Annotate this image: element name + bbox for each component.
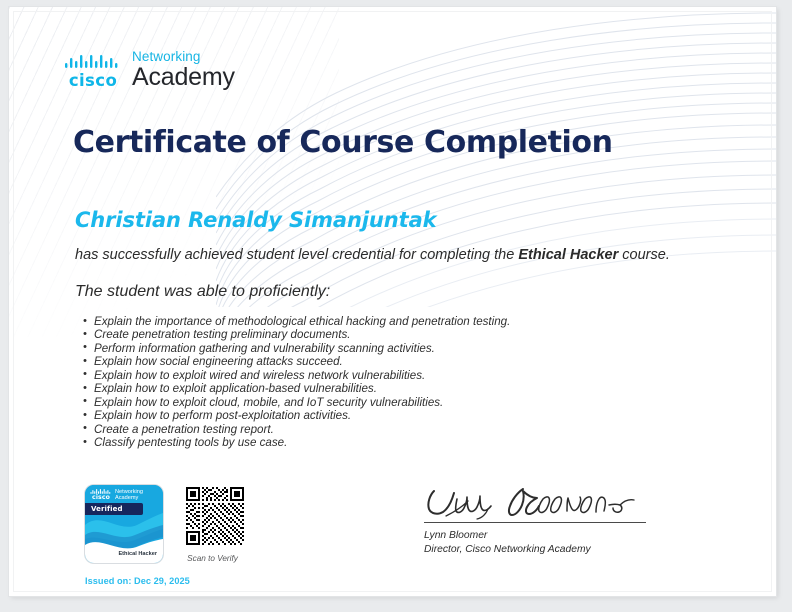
competency-list: Explain the importance of methodological… (83, 315, 510, 450)
achievement-suffix: course. (618, 247, 670, 263)
list-item: Explain how social engineering attacks s… (83, 355, 510, 368)
list-item: Explain the importance of methodological… (83, 315, 510, 328)
signature-block: Lynn Bloomer Director, Cisco Networking … (424, 485, 684, 557)
page-title: Certificate of Course Completion (73, 125, 613, 160)
list-item: Create a penetration testing report. (83, 423, 510, 436)
verified-ribbon: Verified (85, 503, 143, 515)
verified-badge-icon: cisco Networking Academy Verified Ethica… (85, 485, 163, 563)
academy-wordmark: Networking Academy (132, 50, 235, 92)
handwritten-signature-icon (424, 485, 639, 521)
list-item: Explain how to exploit application-based… (83, 382, 510, 395)
badge-academy-wordmark: Networking Academy (115, 489, 143, 501)
recipient-name: Christian Renaldy Simanjuntak (75, 208, 437, 232)
qr-caption: Scan to Verify (179, 554, 246, 563)
list-item: Create penetration testing preliminary d… (83, 328, 510, 341)
qr-verification-block[interactable]: Scan to Verify (186, 487, 246, 563)
certificate-page: cisco Networking Academy Certificate of … (9, 7, 776, 596)
qr-code-icon[interactable] (186, 487, 244, 545)
signatory-title: Director, Cisco Networking Academy (424, 543, 684, 557)
badge-logo: cisco Networking Academy (90, 489, 143, 501)
certificate-content: cisco Networking Academy Certificate of … (9, 7, 776, 596)
badge-course-label: Ethical Hacker (118, 551, 157, 557)
academy-word: Academy (132, 64, 235, 91)
networking-word: Networking (132, 50, 235, 64)
list-item: Explain how to exploit cloud, mobile, an… (83, 396, 510, 409)
course-name: Ethical Hacker (518, 247, 618, 263)
cisco-bars-icon (65, 55, 121, 71)
cisco-networking-academy-logo: cisco Networking Academy (65, 50, 235, 92)
badge-cisco-text: cisco (92, 495, 110, 501)
badge-academy-word: Academy (115, 495, 143, 501)
achievement-statement: has successfully achieved student level … (75, 247, 670, 263)
badge-cisco-wordmark: cisco (90, 489, 112, 501)
list-item: Explain how to exploit wired and wireles… (83, 369, 510, 382)
list-item: Classify pentesting tools by use case. (83, 436, 510, 449)
list-item: Perform information gathering and vulner… (83, 342, 510, 355)
cisco-wordmark-text: cisco (69, 73, 117, 90)
proficiency-heading: The student was able to proficiently: (75, 283, 330, 301)
screenshot-canvas: cisco Networking Academy Certificate of … (0, 0, 792, 612)
signature-rule (424, 522, 646, 523)
achievement-prefix: has successfully achieved student level … (75, 247, 518, 263)
cisco-wordmark: cisco (65, 55, 121, 93)
signatory-name: Lynn Bloomer (424, 529, 684, 543)
list-item: Explain how to perform post-exploitation… (83, 409, 510, 422)
issue-date: Issued on: Dec 29, 2025 (85, 576, 190, 586)
verified-label: Verified (91, 505, 123, 513)
